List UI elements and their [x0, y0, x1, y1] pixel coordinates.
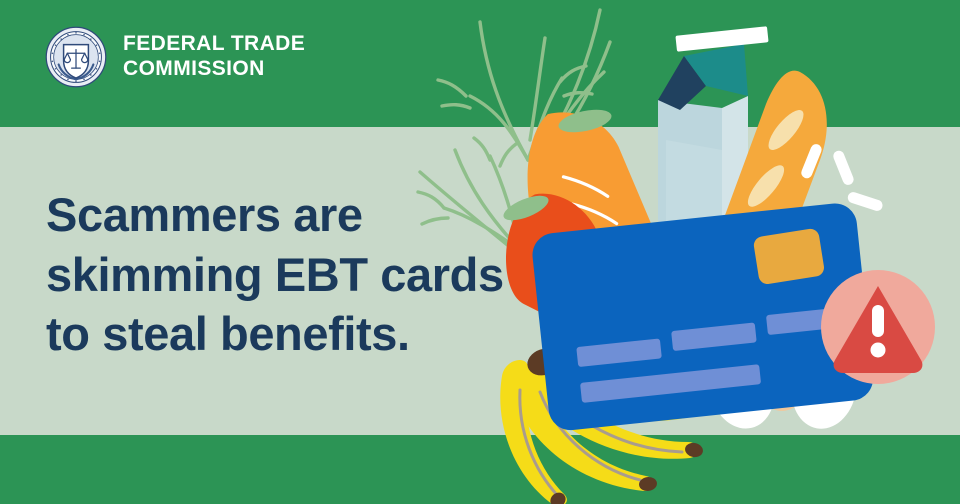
page-headline: Scammers are skimming EBT cards to steal… — [46, 185, 546, 364]
ftc-ebt-skimming-graphic: FEDERAL TRADE COMMISSION Scammers are sk… — [0, 0, 960, 504]
ftc-seal-icon — [45, 26, 107, 88]
background-band-bottom — [0, 435, 960, 504]
ftc-logo[interactable]: FEDERAL TRADE COMMISSION — [45, 26, 305, 88]
ftc-logo-text: FEDERAL TRADE COMMISSION — [123, 32, 305, 81]
